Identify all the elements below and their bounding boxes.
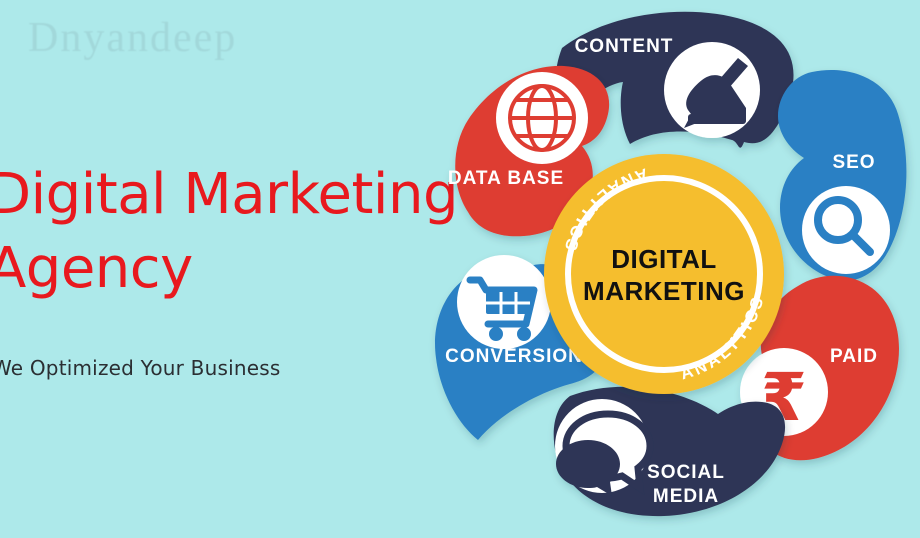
segment-paid-label: PAID — [830, 346, 878, 367]
segment-content-label: CONTENT — [575, 36, 674, 57]
segment-social-media-label-line-1: SOCIAL — [647, 462, 725, 483]
page-title: Digital Marketing Agency — [0, 158, 428, 307]
center-hub[interactable]: ANALYTICS ANALYTICS DIGITAL MARKETING — [544, 154, 784, 394]
segment-social-media-label-line-2: MEDIA — [653, 486, 719, 507]
headline-line-1: Digital Marketing — [0, 158, 428, 232]
segment-conversion-label: CONVERSION — [445, 346, 583, 367]
headline-line-2: Agency — [0, 232, 428, 306]
segment-seo-label: SEO — [832, 152, 875, 173]
center-title-line-1: DIGITAL — [611, 244, 717, 274]
center-title-line-2: MARKETING — [583, 276, 745, 306]
tagline-text: We Optimized Your Business — [0, 356, 280, 380]
segment-seo[interactable]: SEO — [778, 70, 906, 281]
banner-canvas: Dnyandeep Digital Marketing Agency We Op… — [0, 0, 920, 538]
center-hub-disc[interactable] — [544, 154, 784, 394]
segment-data-base-label: DATA BASE — [448, 168, 564, 189]
segment-social-media[interactable]: SOCIAL MEDIA — [554, 387, 785, 516]
digital-marketing-wheel-diagram: CONTENT SEO — [406, 0, 920, 538]
watermark-text: Dnyandeep — [28, 14, 288, 84]
